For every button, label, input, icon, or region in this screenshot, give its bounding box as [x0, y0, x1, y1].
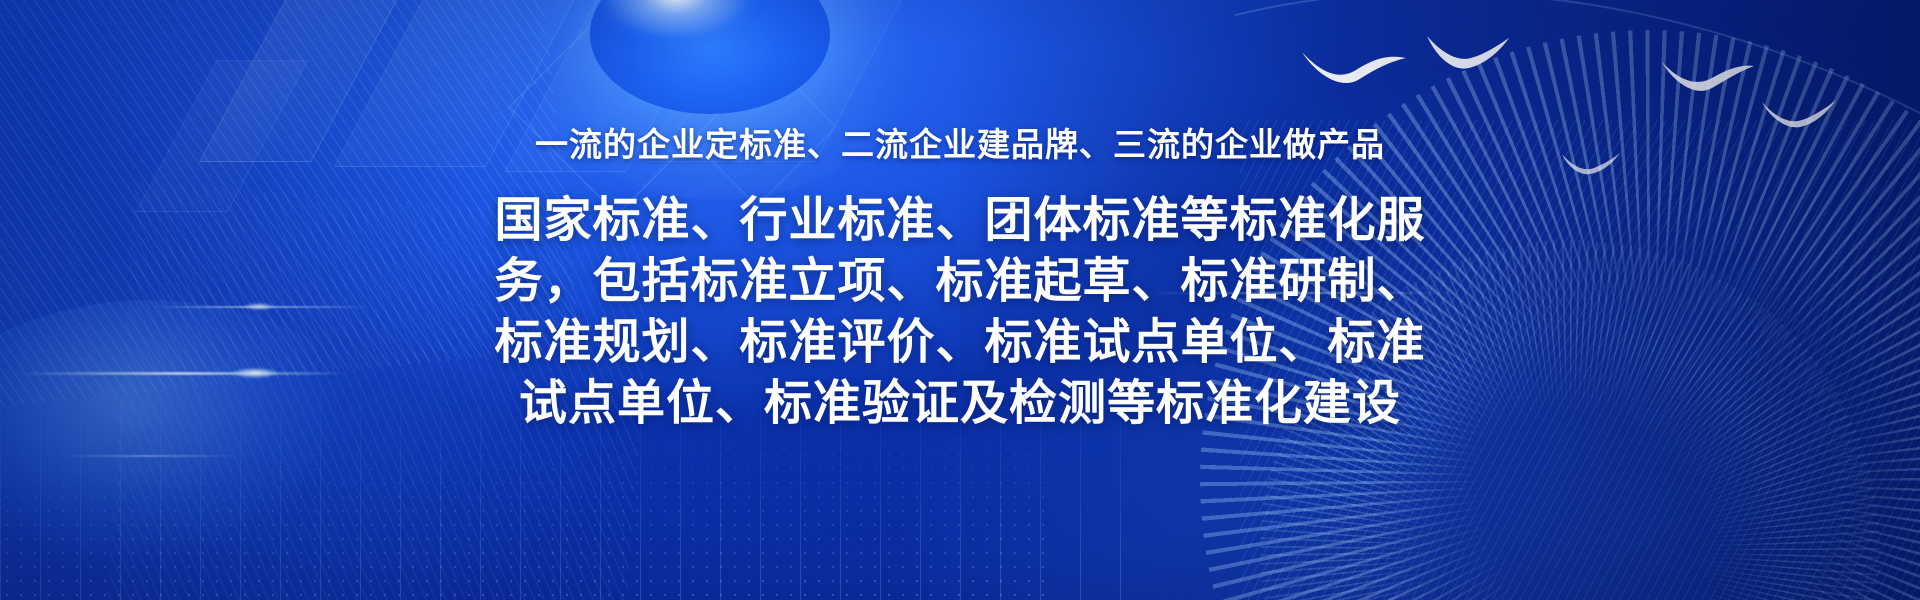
- body-line-2: 务，包括标准立项、标准起草、标准研制、: [445, 251, 1475, 312]
- headline-text: 一流的企业定标准、二流企业建品牌、三流的企业做产品: [0, 118, 1920, 166]
- banner-hero: 一流的企业定标准、二流企业建品牌、三流的企业做产品 国家标准、行业标准、团体标准…: [0, 0, 1920, 600]
- body-text-block: 国家标准、行业标准、团体标准等标准化服 务，包括标准立项、标准起草、标准研制、 …: [445, 190, 1475, 434]
- body-line-4: 试点单位、标准验证及检测等标准化建设: [445, 373, 1475, 434]
- body-line-1: 国家标准、行业标准、团体标准等标准化服: [445, 190, 1475, 251]
- body-line-3: 标准规划、标准评价、标准试点单位、标准: [445, 312, 1475, 373]
